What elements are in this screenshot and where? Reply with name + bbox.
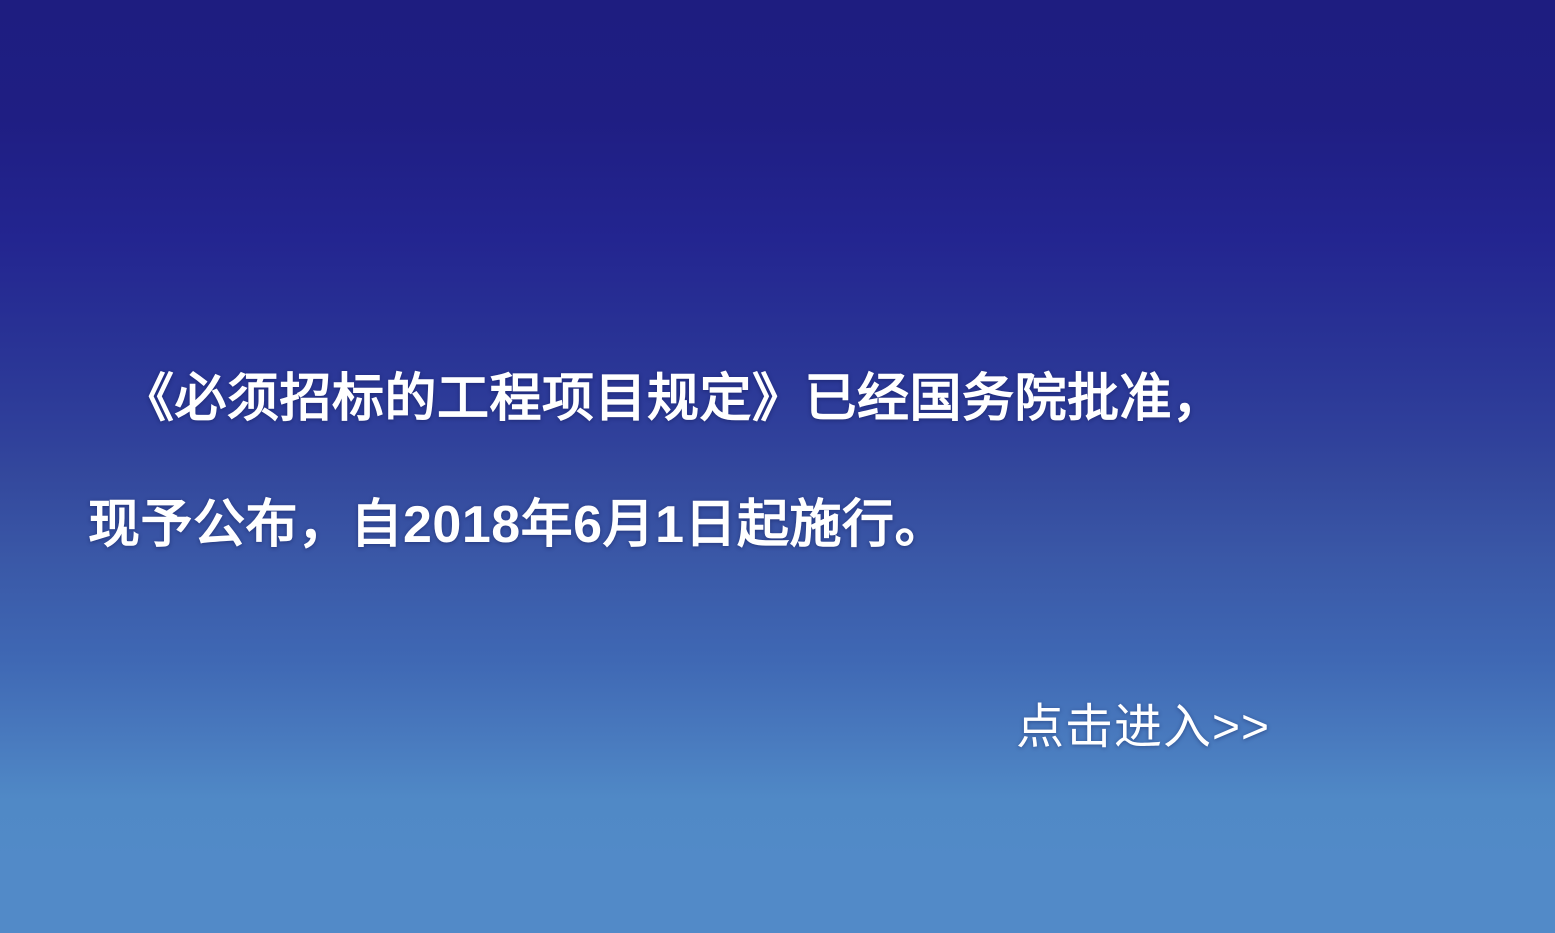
headline-line-1: 《必须招标的工程项目规定》已经国务院批准， [0,336,1555,462]
enter-link[interactable]: 点击进入>> [1016,692,1270,764]
headline-text: 《必须招标的工程项目规定》已经国务院批准， 现予公布，自2018年6月1日起施行… [0,336,1555,588]
headline-line-2: 现予公布，自2018年6月1日起施行。 [0,462,1555,588]
enter-link-label: 点击进入>> [1016,701,1270,754]
announcement-banner: 《必须招标的工程项目规定》已经国务院批准， 现予公布，自2018年6月1日起施行… [0,0,1555,933]
